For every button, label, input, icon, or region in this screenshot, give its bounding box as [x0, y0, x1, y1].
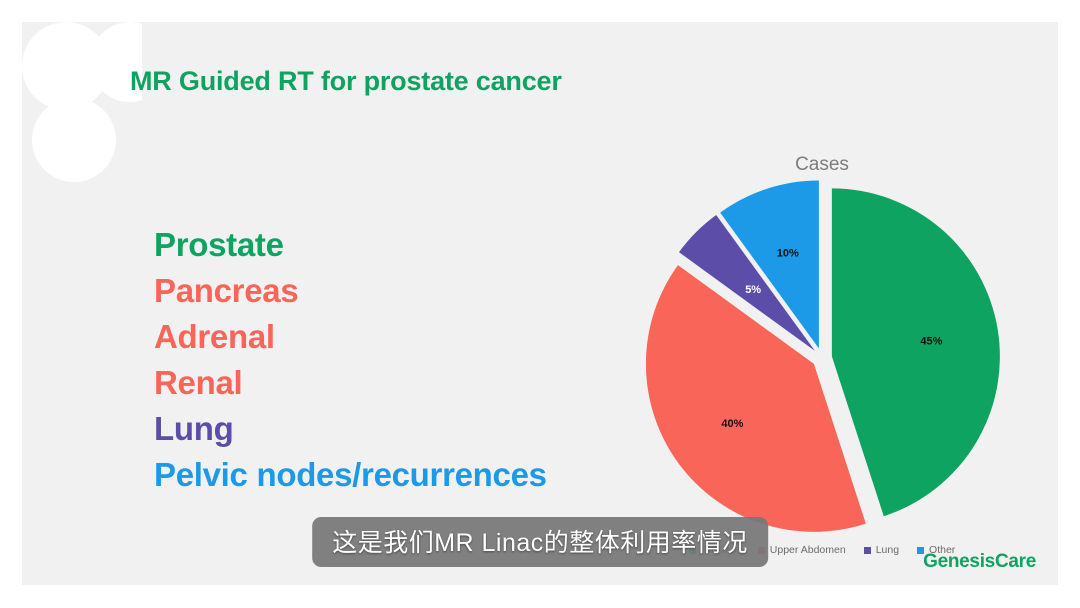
subtitle-caption: 这是我们MR Linac的整体利用率情况: [312, 517, 768, 567]
cases-pie-chart: Cases 45%40%5%10% Prostate Upper Abdomen…: [612, 132, 1032, 572]
page-title: MR Guided RT for prostate cancer: [130, 66, 562, 97]
list-item-label: Lung: [154, 410, 233, 447]
pie-plot-area: 45%40%5%10%: [612, 180, 1032, 540]
list-item: Pancreas: [154, 268, 634, 314]
pie-svg: 45%40%5%10%: [612, 180, 1032, 540]
pie-slice-label: 40%: [721, 418, 743, 430]
pie-slice[interactable]: [832, 188, 1000, 516]
list-item: Pelvic nodes/recurrences: [154, 452, 634, 498]
pie-slice-label: 45%: [920, 336, 942, 348]
list-item: Renal: [154, 360, 634, 406]
legend-label: Upper Abdomen: [770, 544, 846, 556]
list-item-label: Pelvic nodes/recurrences: [154, 456, 547, 493]
chart-title: Cases: [612, 154, 1032, 176]
list-item-label: Renal: [154, 364, 242, 401]
brand-logo: GenesisCare: [923, 551, 1036, 573]
legend-label: Lung: [876, 544, 899, 556]
pie-slice-label: 5%: [745, 284, 761, 296]
list-item-label: Pancreas: [154, 272, 298, 309]
subtitle-caption-text: 这是我们MR Linac的整体利用率情况: [332, 529, 748, 557]
legend-swatch-icon: [864, 547, 871, 554]
list-item-label: Adrenal: [154, 318, 275, 355]
presentation-slide: MR Guided RT for prostate cancer Prostat…: [22, 22, 1058, 585]
list-item: Adrenal: [154, 314, 634, 360]
list-item: Lung: [154, 406, 634, 452]
treatment-site-list: Prostate Pancreas Adrenal Renal Lung Pel…: [154, 222, 634, 498]
list-item-label: Prostate: [154, 226, 284, 263]
legend-item[interactable]: Upper Abdomen: [758, 544, 846, 556]
list-item: Prostate: [154, 222, 634, 268]
pie-slice-label: 10%: [777, 248, 799, 260]
legend-item[interactable]: Lung: [864, 544, 899, 556]
genesiscare-g-mark-icon: [22, 22, 142, 182]
